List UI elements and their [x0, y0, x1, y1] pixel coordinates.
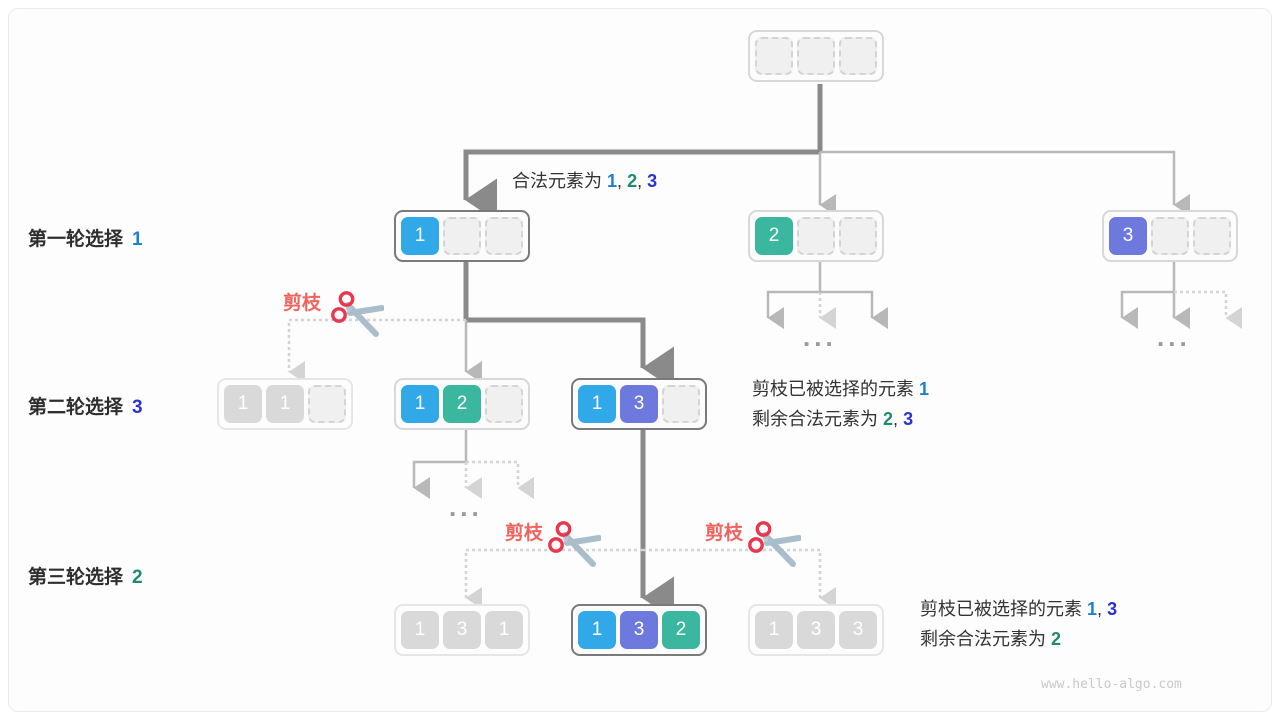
- cell-root-1: [797, 37, 835, 75]
- annotation-legal-elements: 合法元素为 1, 2, 3: [512, 166, 657, 196]
- node-level2-2: 1 3: [571, 378, 707, 430]
- node-level1-2: 3: [1102, 210, 1238, 262]
- cell-l1-2-2: [1193, 217, 1231, 255]
- cell-l3-1-1: 3: [620, 611, 658, 649]
- cell-l1-2-1: [1151, 217, 1189, 255]
- annotation-level2-line1: 剪枝已被选择的元素 1: [752, 374, 929, 404]
- level3-note-line1-value-0: 1: [1087, 599, 1097, 619]
- cell-l2-1-0: 1: [401, 385, 439, 423]
- annotation-level2-line2: 剩余合法元素为 2, 3: [752, 404, 929, 434]
- level2-note-line1-text: 剪枝已被选择的元素: [752, 379, 914, 399]
- ellipsis-2: ...: [449, 492, 483, 523]
- legal-elements-value-1: 2: [627, 171, 637, 191]
- level3-note-line2-value-0: 2: [1051, 629, 1061, 649]
- legal-elements-value-2: 3: [647, 171, 657, 191]
- prune-label-2: 剪枝: [705, 518, 743, 545]
- row-label-level2-value: 3: [132, 397, 143, 418]
- cell-l3-2-2: 3: [839, 611, 877, 649]
- scissors-icon-2: [747, 520, 801, 572]
- row-label-level3: 第三轮选择2: [28, 562, 143, 589]
- cell-l2-1-1: 2: [443, 385, 481, 423]
- cell-l3-1-2: 2: [662, 611, 700, 649]
- level2-note-line2-value-1: 3: [903, 409, 913, 429]
- annotation-level3-note: 剪枝已被选择的元素 1, 3 剩余合法元素为 2: [920, 594, 1117, 654]
- cell-l1-2-0: 3: [1109, 217, 1147, 255]
- cell-l2-2-0: 1: [578, 385, 616, 423]
- scissors-icon-0: [330, 290, 384, 342]
- watermark: www.hello-algo.com: [1041, 677, 1182, 692]
- level3-note-line1-text: 剪枝已被选择的元素: [920, 599, 1082, 619]
- node-level1-1: 2: [748, 210, 884, 262]
- cell-l2-1-2: [485, 385, 523, 423]
- prune-label-0: 剪枝: [283, 288, 321, 315]
- cell-l3-2-0: 1: [755, 611, 793, 649]
- annotation-level2-note: 剪枝已被选择的元素 1 剩余合法元素为 2, 3: [752, 374, 929, 434]
- cell-l1-1-0: 2: [755, 217, 793, 255]
- ellipsis-1: ...: [1157, 322, 1191, 353]
- node-level3-2: 1 3 3: [748, 604, 884, 656]
- diagram-canvas: 第一轮选择1 第二轮选择3 第三轮选择2 1 2 3 1 1 1 2 1 3: [0, 0, 1280, 720]
- row-label-level3-value: 2: [132, 567, 143, 588]
- node-level2-1: 1 2: [394, 378, 530, 430]
- node-level3-0: 1 3 1: [394, 604, 530, 656]
- level3-note-line2-text: 剩余合法元素为: [920, 629, 1046, 649]
- cell-root-2: [839, 37, 877, 75]
- cell-l1-0-1: [443, 217, 481, 255]
- row-label-level1: 第一轮选择1: [28, 224, 143, 251]
- cell-l1-0-0: 1: [401, 217, 439, 255]
- cell-l1-0-2: [485, 217, 523, 255]
- row-label-level3-text: 第三轮选择: [28, 567, 123, 588]
- cell-l3-0-1: 3: [443, 611, 481, 649]
- annotation-level3-line1: 剪枝已被选择的元素 1, 3: [920, 594, 1117, 624]
- row-label-level2: 第二轮选择3: [28, 392, 143, 419]
- cell-l2-2-2: [662, 385, 700, 423]
- cell-l3-2-1: 3: [797, 611, 835, 649]
- cell-l1-1-1: [797, 217, 835, 255]
- cell-l2-0-1: 1: [266, 385, 304, 423]
- row-label-level1-value: 1: [132, 229, 143, 250]
- cell-l3-1-0: 1: [578, 611, 616, 649]
- row-label-level1-text: 第一轮选择: [28, 229, 123, 250]
- cell-l2-0-0: 1: [224, 385, 262, 423]
- node-level1-0: 1: [394, 210, 530, 262]
- cell-l2-2-1: 3: [620, 385, 658, 423]
- legal-elements-value-0: 1: [607, 171, 617, 191]
- node-level3-1: 1 3 2: [571, 604, 707, 656]
- level2-note-line2-value-0: 2: [883, 409, 893, 429]
- cell-l3-0-2: 1: [485, 611, 523, 649]
- row-label-level2-text: 第二轮选择: [28, 397, 123, 418]
- cell-root-0: [755, 37, 793, 75]
- cell-l1-1-2: [839, 217, 877, 255]
- node-level2-0: 1 1: [217, 378, 353, 430]
- ellipsis-0: ...: [803, 322, 837, 353]
- node-root: [748, 30, 884, 82]
- cell-l2-0-2: [308, 385, 346, 423]
- prune-label-1: 剪枝: [505, 518, 543, 545]
- level2-note-line1-value-0: 1: [919, 379, 929, 399]
- level3-note-line1-value-1: 3: [1107, 599, 1117, 619]
- cell-l3-0-0: 1: [401, 611, 439, 649]
- level2-note-line2-text: 剩余合法元素为: [752, 409, 878, 429]
- legal-elements-text: 合法元素为: [512, 171, 602, 191]
- scissors-icon-1: [547, 520, 601, 572]
- annotation-level3-line2: 剩余合法元素为 2: [920, 624, 1117, 654]
